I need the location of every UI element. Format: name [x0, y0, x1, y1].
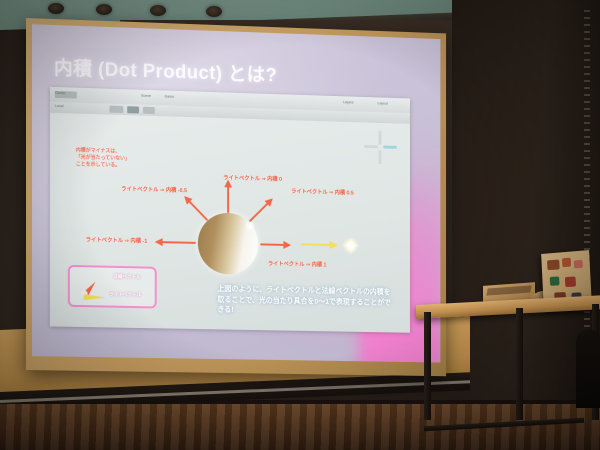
laptop-sticker	[550, 276, 560, 285]
unity-toolbar-label: Layout	[378, 101, 388, 105]
light-vector-arrow	[301, 244, 339, 245]
slide-explanation: 上図のように、ライトベクトルと法線ベクトルの内積を取ることで、光の当たり具合を0…	[217, 284, 391, 318]
presentation-photo: 内積 (Dot Product) とは? Center Scene Game L…	[0, 0, 600, 450]
vector-label: ライトベクトル ⇒ 内積 0.5	[291, 187, 354, 197]
ceiling-light-icon	[206, 6, 222, 17]
laptop-sticker	[565, 276, 576, 287]
specular-highlight	[246, 221, 255, 230]
toolbar-chip	[143, 107, 155, 114]
laptop-sticker	[574, 260, 583, 269]
sun-icon	[343, 237, 358, 253]
vector-label: ライトベクトル ⇒ 内積 -1	[86, 235, 148, 244]
vector-label: ライトベクトル ⇒ 内積 -0.5	[121, 185, 187, 195]
projection-screen-surface: 内積 (Dot Product) とは? Center Scene Game L…	[32, 24, 440, 362]
unity-toolbar-label: Local	[55, 104, 64, 108]
red-annotation: 内積がマイナスは、 「光が当たっていない」 ことを示している。	[76, 147, 130, 169]
laptop-sticker	[547, 259, 560, 270]
scene-axis-gizmo-icon	[364, 130, 396, 164]
toolbar-chip	[109, 106, 123, 113]
slide-title: 内積 (Dot Product) とは?	[54, 53, 277, 87]
toolbar-chip	[127, 106, 139, 113]
unity-toolbar-label: Scene	[141, 94, 151, 98]
vector-legend-box: 法線ベクトル ライトベクトル	[68, 265, 157, 309]
vector-label: ライトベクトル ⇒ 内積 1	[268, 259, 326, 268]
wooden-floor	[0, 404, 600, 450]
table-leg	[424, 312, 431, 420]
unity-scene-view: 内積がマイナスは、 「光が当たっていない」 ことを示している。	[50, 113, 410, 333]
person-silhouette	[576, 330, 600, 408]
vector-label: ライトベクトル ⇒ 内積 0	[223, 173, 282, 182]
unity-toolbar-label: Game	[165, 94, 175, 98]
legend-label-light: ライトベクトル	[109, 292, 141, 299]
ceiling-light-icon	[150, 5, 166, 16]
ceiling-light-icon	[48, 3, 64, 14]
table-leg	[516, 308, 523, 420]
unity-toolbar-label: Layers	[343, 100, 353, 104]
ceiling-light-icon	[96, 4, 112, 15]
projection-screen-frame: 内積 (Dot Product) とは? Center Scene Game L…	[26, 18, 446, 376]
laptop-sticker	[562, 258, 571, 268]
unity-toolbar-label: Center	[55, 91, 66, 95]
light-vector-swatch	[84, 294, 106, 300]
legend-label-normal: 法線ベクトル	[113, 274, 140, 281]
unity-editor-screenshot: Center Scene Game Layers Layout Local	[50, 87, 410, 333]
